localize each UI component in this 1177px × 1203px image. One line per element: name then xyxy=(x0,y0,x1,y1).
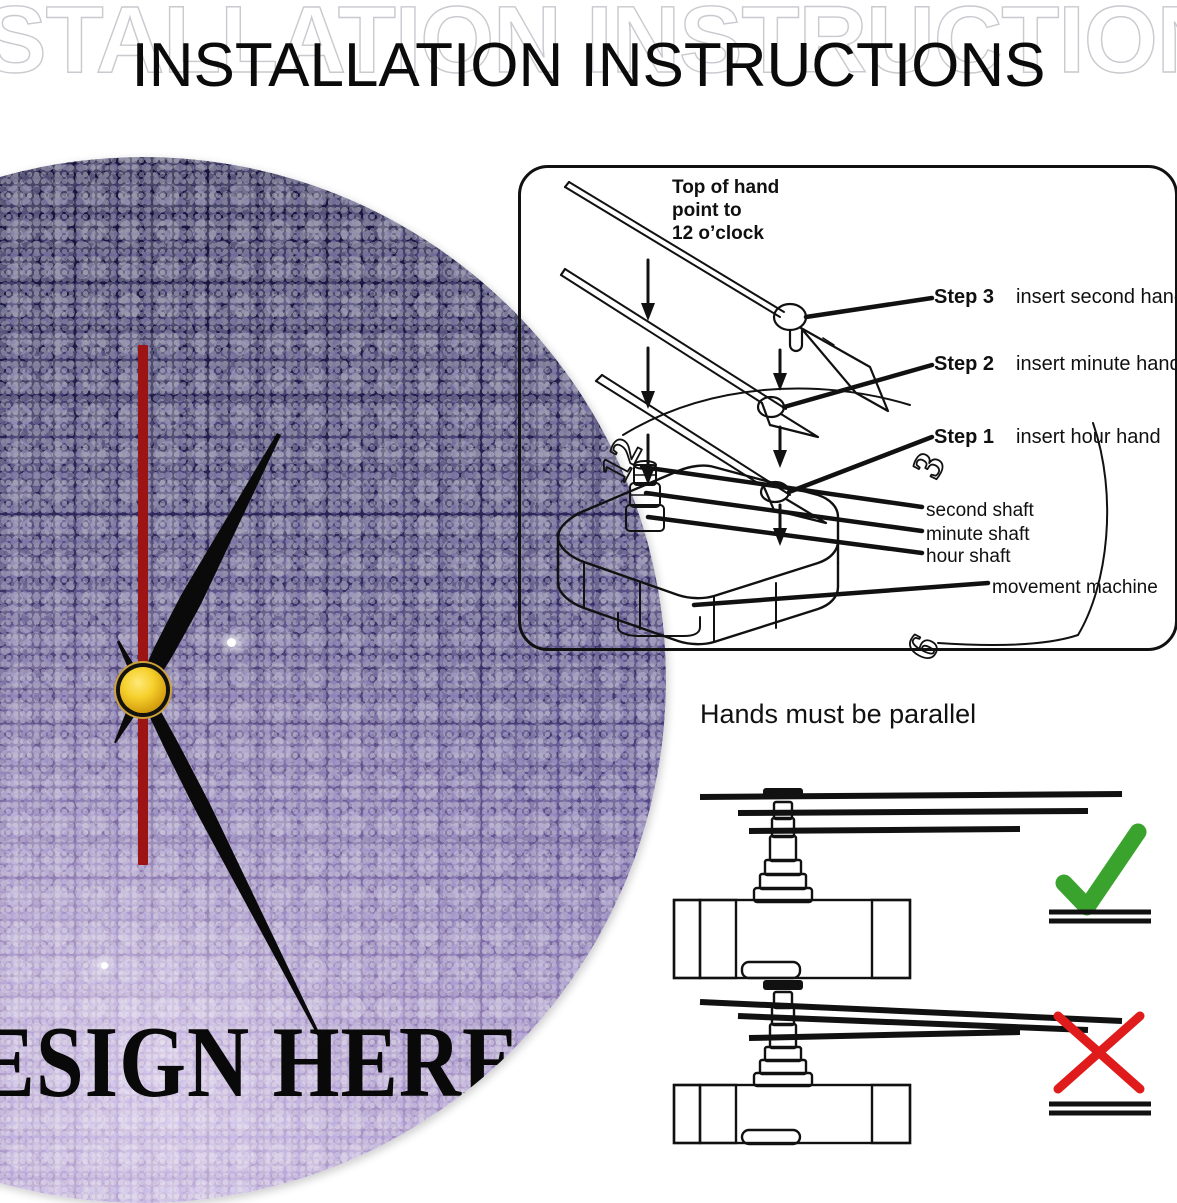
dial-arc-right xyxy=(1078,423,1107,635)
installation-instructions-page: INSTALLATION INSTRUCTIONS INSTALLATION I… xyxy=(0,0,1177,1156)
step-3-action: insert second hand xyxy=(1016,286,1177,308)
dial-number-12: 12 xyxy=(591,431,651,490)
page-title: INSTALLATION INSTRUCTIONS xyxy=(131,30,1045,101)
step-3-number: Step 3 xyxy=(934,286,994,308)
movement-machine-label: movement machine xyxy=(992,577,1158,599)
second-hand-shape xyxy=(138,345,148,865)
dial-number-6: 6 xyxy=(898,628,948,668)
incorrect-baseline xyxy=(1049,1104,1151,1113)
page-header: INSTALLATION INSTRUCTIONS INSTALLATION I… xyxy=(0,0,1177,120)
step-3-label: Step 3insert second hand xyxy=(934,286,1177,309)
dial-arc-lower xyxy=(938,635,1078,645)
clock-design-text: UR DESIGN HERE xyxy=(0,1003,666,1121)
assembly-diagram-svg: 12 3 6 xyxy=(518,165,1172,645)
correct-baseline xyxy=(1049,912,1151,921)
second-hand-collar xyxy=(790,331,802,351)
correct-top-cap xyxy=(763,788,803,798)
step-2-action: insert minute hand xyxy=(1016,353,1177,375)
second-shaft-label: second shaft xyxy=(926,500,1034,522)
correct-example-drawing xyxy=(674,788,1122,978)
step-1-action: insert hour hand xyxy=(1016,426,1161,448)
bright-star-1 xyxy=(227,638,236,647)
incorrect-example-drawing xyxy=(674,980,1122,1144)
minute-shaft-label: minute shaft xyxy=(926,524,1030,546)
dial-arc-upper xyxy=(623,388,910,435)
hands-parallel-title: Hands must be parallel xyxy=(700,699,976,730)
top-of-hand-note: Top of hand point to 12 o’clock xyxy=(672,176,779,246)
minute-hand-tip xyxy=(770,414,818,437)
step-2-label: Step 2insert minute hand xyxy=(934,353,1177,376)
movement-machine-drawing xyxy=(558,466,838,645)
dial-number-3: 3 xyxy=(904,446,954,486)
incorrect-top-cap xyxy=(763,980,803,990)
step-1-label: Step 1insert hour hand xyxy=(934,426,1161,449)
hands-parallel-svg xyxy=(660,740,1177,1150)
cross-icon xyxy=(1058,1016,1140,1089)
step-1-number: Step 1 xyxy=(934,426,994,448)
hour-shaft-label: hour shaft xyxy=(926,546,1011,568)
check-icon xyxy=(1064,832,1138,907)
clock-center-cap xyxy=(120,667,166,713)
step-2-number: Step 2 xyxy=(934,353,994,375)
